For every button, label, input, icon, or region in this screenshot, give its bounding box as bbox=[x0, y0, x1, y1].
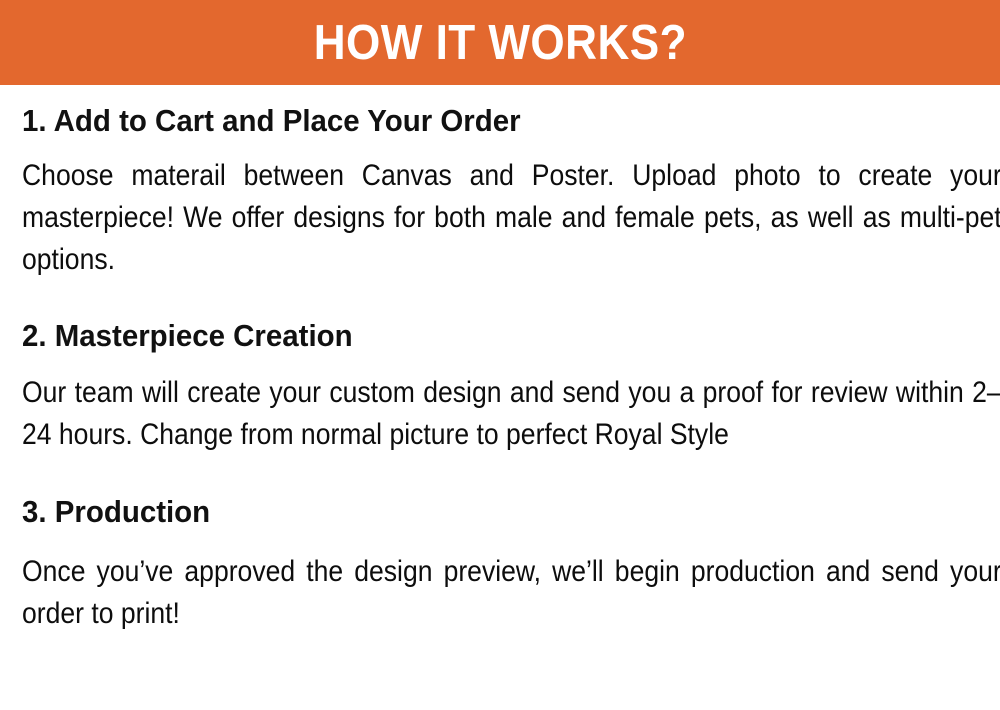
step-2-body: Our team will create your custom design … bbox=[22, 372, 1000, 456]
step-3-body: Once you’ve approved the design preview,… bbox=[22, 551, 1000, 635]
step-3-heading: 3. Production bbox=[22, 495, 932, 529]
how-it-works-infographic: HOW IT WORKS? 1. Add to Cart and Place Y… bbox=[0, 0, 1000, 710]
page-title: HOW IT WORKS? bbox=[313, 18, 686, 68]
step-1-heading: 1. Add to Cart and Place Your Order bbox=[22, 104, 932, 138]
steps-container: 1. Add to Cart and Place Your Order Choo… bbox=[0, 104, 1000, 635]
step-1-body: Choose materail between Canvas and Poste… bbox=[22, 155, 1000, 281]
step-2-heading: 2. Masterpiece Creation bbox=[22, 319, 932, 353]
header-banner: HOW IT WORKS? bbox=[0, 0, 1000, 85]
